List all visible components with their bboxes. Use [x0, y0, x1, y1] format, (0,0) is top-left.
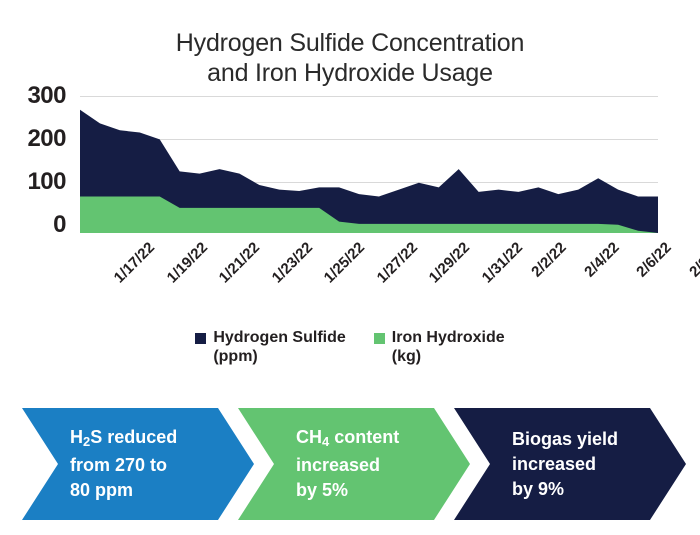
x-tick-label: 2/8/22 — [686, 239, 700, 281]
legend-label-line-1: Iron Hydroxide — [392, 329, 505, 346]
x-tick-label: 1/27/22 — [373, 239, 420, 286]
chart-title: Hydrogen Sulfide Concentration and Iron … — [0, 28, 700, 88]
banner-chevron-text: CH4 contentincreasedby 5% — [296, 425, 399, 504]
area-chart: 300 200 100 0 — [0, 88, 700, 233]
x-tick-label: 1/17/22 — [111, 239, 158, 286]
banner-line-2: increased — [296, 453, 399, 478]
y-tick-300: 300 — [27, 82, 66, 110]
x-tick-label: 2/6/22 — [634, 239, 676, 281]
plot-area — [80, 96, 658, 233]
x-tick-label: 1/31/22 — [478, 239, 525, 286]
legend-label: Iron Hydroxide(kg) — [392, 328, 505, 366]
y-tick-200: 200 — [27, 125, 66, 153]
banner-chevron: Biogas yieldincreasedby 9% — [454, 408, 686, 520]
x-tick-label: 1/23/22 — [268, 239, 315, 286]
banner-chevron-text: H2S reducedfrom 270 to80 ppm — [70, 425, 177, 504]
legend-label-line-2: (ppm) — [213, 347, 345, 366]
banner-line-1: CH4 content — [296, 425, 399, 454]
chart-legend: Hydrogen Sulfide(ppm)Iron Hydroxide(kg) — [0, 328, 700, 382]
legend-label-line-1: Hydrogen Sulfide — [213, 329, 345, 346]
x-tick-label: 1/29/22 — [426, 239, 473, 286]
banner-line-1: Biogas yield — [512, 427, 618, 452]
banner-chevron-text: Biogas yieldincreasedby 9% — [512, 427, 618, 502]
banner-chevron: H2S reducedfrom 270 to80 ppm — [22, 408, 254, 520]
series-svg — [80, 96, 658, 233]
x-axis-labels: 1/17/221/19/221/21/221/23/221/25/221/27/… — [0, 233, 700, 318]
legend-item[interactable]: Iron Hydroxide(kg) — [374, 328, 505, 366]
x-tick-label: 1/25/22 — [321, 239, 368, 286]
x-tick-label: 2/4/22 — [581, 239, 623, 281]
outcome-banner: H2S reducedfrom 270 to80 ppmCH4 contenti… — [22, 408, 678, 520]
legend-item[interactable]: Hydrogen Sulfide(ppm) — [195, 328, 345, 366]
y-tick-100: 100 — [27, 168, 66, 196]
banner-chevron: CH4 contentincreasedby 5% — [238, 408, 470, 520]
banner-line-3: by 5% — [296, 478, 399, 503]
x-tick-label: 1/21/22 — [216, 239, 263, 286]
banner-line-1: H2S reduced — [70, 425, 177, 454]
banner-line-2: increased — [512, 452, 618, 477]
legend-swatch-hydrogen-sulfide — [195, 333, 206, 344]
legend-label: Hydrogen Sulfide(ppm) — [213, 328, 345, 366]
banner-line-3: by 9% — [512, 477, 618, 502]
infographic-root: Hydrogen Sulfide Concentration and Iron … — [0, 0, 700, 535]
x-tick-label: 1/19/22 — [163, 239, 210, 286]
chart-title-line-2: and Iron Hydroxide Usage — [0, 58, 700, 88]
legend-label-line-2: (kg) — [392, 347, 505, 366]
chart-title-line-1: Hydrogen Sulfide Concentration — [176, 29, 524, 57]
banner-line-2: from 270 to — [70, 453, 177, 478]
x-tick-label: 2/2/22 — [529, 239, 571, 281]
legend-swatch-iron-hydroxide — [374, 333, 385, 344]
y-axis-labels: 300 200 100 0 — [0, 88, 72, 233]
banner-line-3: 80 ppm — [70, 478, 177, 503]
